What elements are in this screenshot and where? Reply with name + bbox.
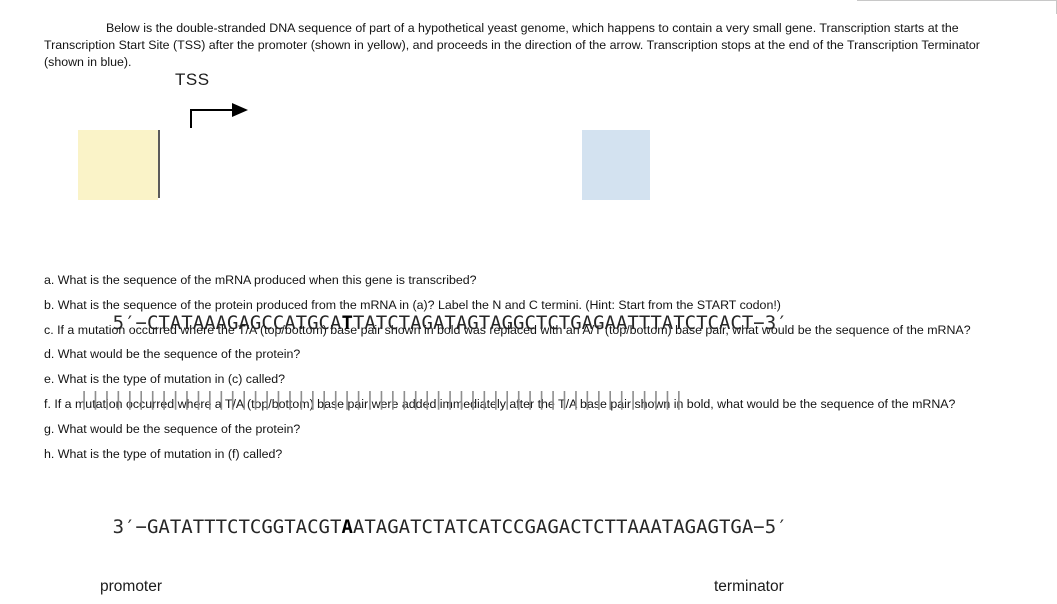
tss-label: TSS xyxy=(175,70,210,90)
transcription-direction-arrow-icon xyxy=(190,100,280,128)
bottom-strand-postbold-bases: ATAGATCTATCATCCGAGACTCTTAA xyxy=(353,516,650,538)
question-item: d. What would be the sequence of the pro… xyxy=(44,346,992,362)
intro-paragraph: Below is the double-stranded DNA sequenc… xyxy=(44,20,1016,70)
top-strand-line: 5′−CTATAAAGAGCCATGCATTATCTAGATAGTAGGCTCT… xyxy=(44,284,944,310)
question-item: g. What would be the sequence of the pro… xyxy=(44,421,992,437)
top-strand-terminator-bases: TATCTC xyxy=(650,312,719,334)
bottom-strand-3prime-tag: 3′− xyxy=(113,516,147,538)
terminator-highlight xyxy=(582,130,651,200)
promoter-label: promoter xyxy=(100,578,162,596)
top-strand-5prime-tag: 5′− xyxy=(113,312,147,334)
top-strand-prebold-bases: GAGCCATGCA xyxy=(227,312,341,334)
base-pair-bond-row: ||||||||||||||||||||||||||||||||||||||||… xyxy=(44,388,944,410)
bottom-strand-5prime-tag: −5′ xyxy=(753,516,787,538)
base-pair-bond-ticks: ||||||||||||||||||||||||||||||||||||||||… xyxy=(44,388,685,410)
top-strand-tail-bases: ACT xyxy=(719,312,753,334)
question-item: e. What is the type of mutation in (c) c… xyxy=(44,371,992,387)
bottom-strand-bold-base: A xyxy=(341,516,352,538)
bottom-strand-tail-bases: TGA xyxy=(719,516,753,538)
bottom-strand-terminator-bases: ATAGAG xyxy=(650,516,719,538)
promoter-highlight xyxy=(78,130,158,200)
terminator-label: terminator xyxy=(714,578,784,596)
top-strand-3prime-tag: −3′ xyxy=(753,312,787,334)
top-strand-promoter-bases: CTATAAA xyxy=(147,312,227,334)
figure-region-labels: promoter terminator xyxy=(44,578,944,604)
page-edge-artifact xyxy=(857,0,1057,8)
bottom-strand-line: 3′−GATATTTCTCGGTACGTAATAGATCTATCATCCGAGA… xyxy=(44,488,944,514)
tss-annotation: TSS xyxy=(44,70,944,128)
question-item: h. What is the type of mutation in (f) c… xyxy=(44,446,992,462)
top-strand-bold-base: T xyxy=(341,312,352,334)
bottom-strand-prebold-bases: CTCGGTACGT xyxy=(227,516,341,538)
top-strand-postbold-bases: TATCTAGATAGTAGGCTCTGAGAATT xyxy=(353,312,650,334)
tss-divider-line xyxy=(158,130,160,198)
bottom-strand-promoter-bases: GATATTT xyxy=(147,516,227,538)
